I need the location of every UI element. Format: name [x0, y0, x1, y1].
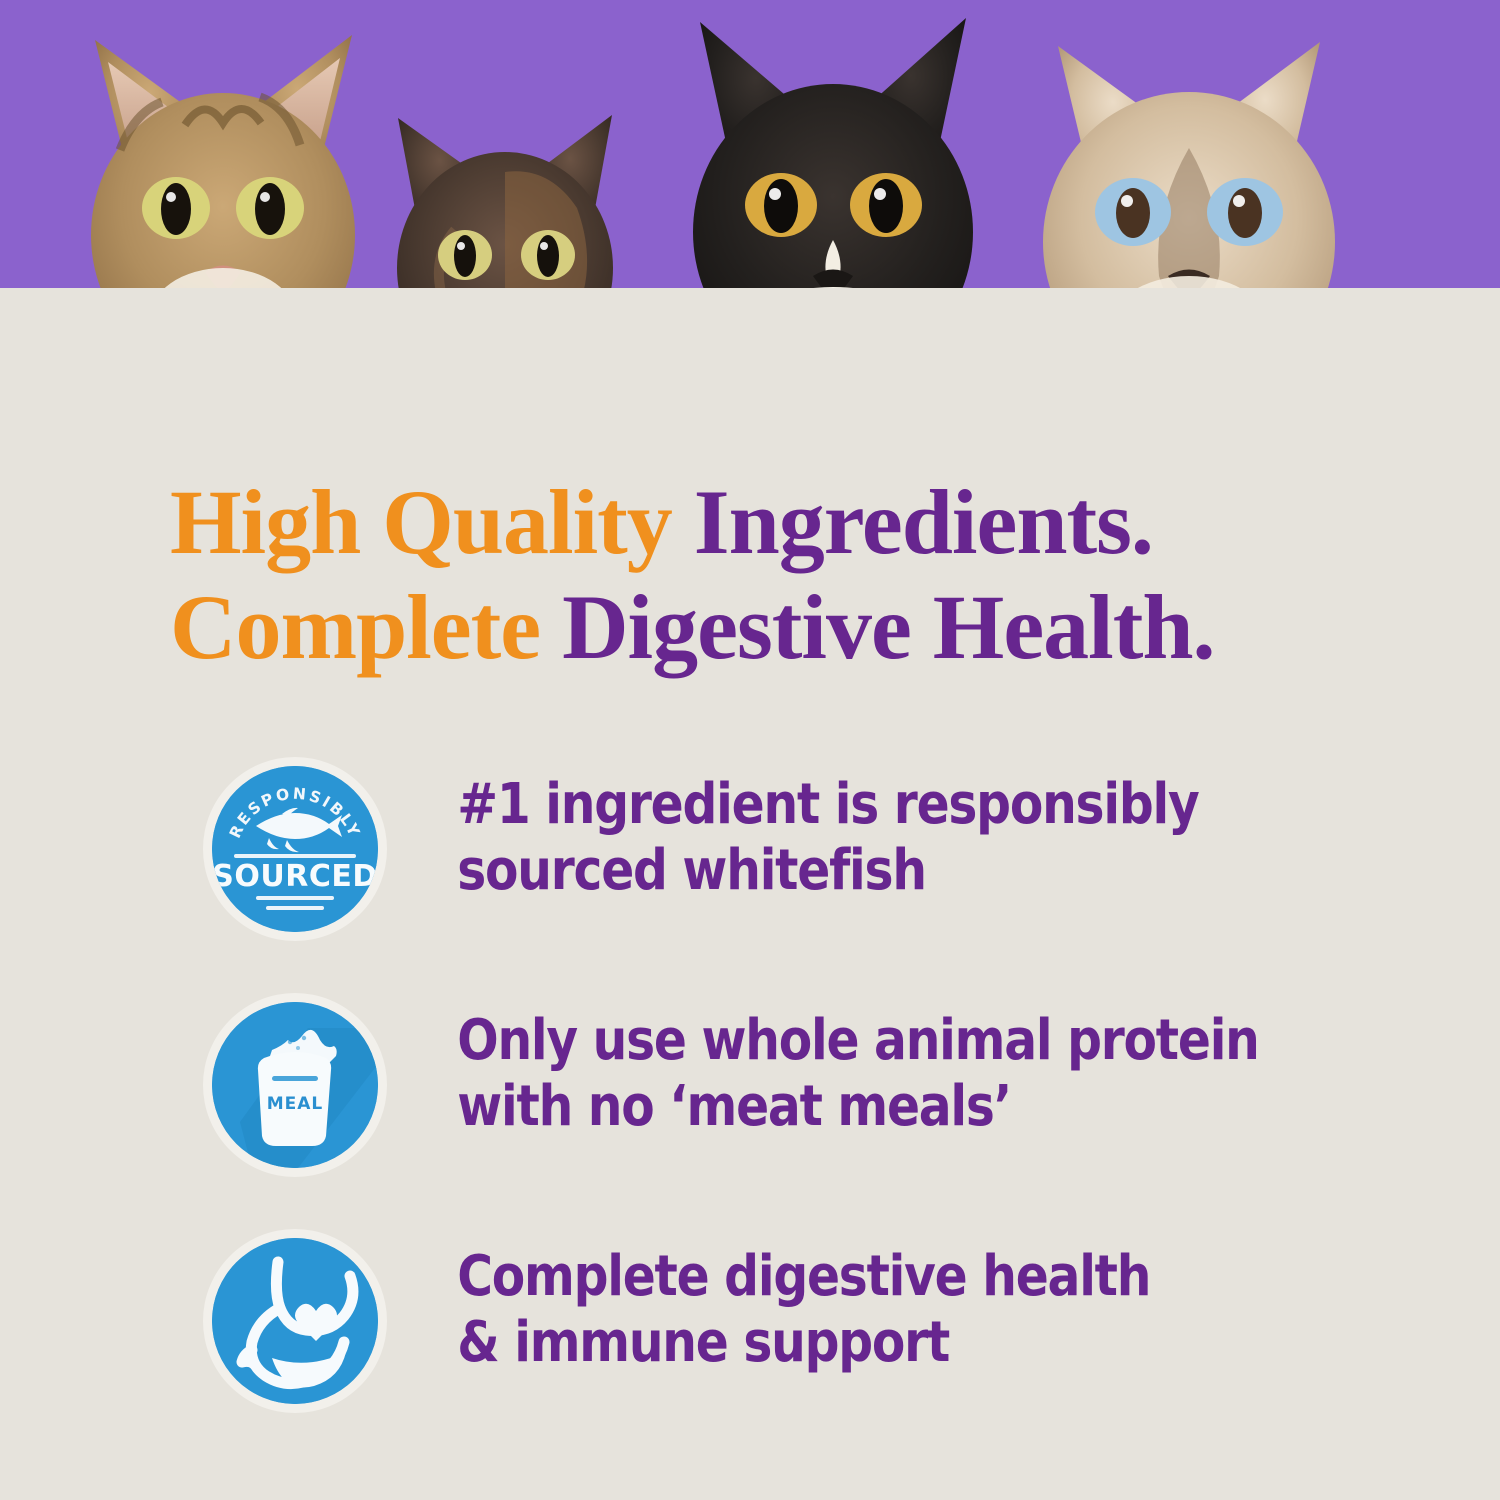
- feature-row: MEAL Only use whole animal protein with …: [0, 996, 1500, 1232]
- headline-line-2: Complete Digestive Health.: [170, 575, 1430, 680]
- cat-tuxedo-longhair: [622, 18, 1046, 420]
- feature-text: Complete digestive health & immune suppo…: [412, 1232, 1359, 1375]
- promo-graphic: High Quality Ingredients. Complete Diges…: [0, 0, 1500, 1500]
- feature-row: Complete digestive health & immune suppo…: [0, 1232, 1500, 1468]
- meal-sack-badge-icon: MEAL: [212, 1002, 378, 1168]
- badge-main-label: SOURCED: [212, 859, 377, 894]
- headline-line-2-purple: Digestive Health.: [562, 576, 1214, 678]
- page-title: High Quality Ingredients. Complete Diges…: [170, 470, 1430, 680]
- cat-photo-group: [0, 0, 1500, 420]
- hero-banner: [0, 0, 1500, 420]
- feature-text: #1 ingredient is responsibly sourced whi…: [412, 760, 1359, 903]
- feature-list: RESPONSIBLY SOURCED: [0, 760, 1500, 1468]
- badge-slot: RESPONSIBLY SOURCED: [212, 760, 412, 932]
- badge-slot: [212, 1232, 412, 1404]
- headline-line-2-orange: Complete: [170, 576, 562, 678]
- headline-line-1: High Quality Ingredients.: [170, 470, 1430, 575]
- headline-line-1-orange: High Quality: [170, 471, 694, 573]
- feature-row: RESPONSIBLY SOURCED: [0, 760, 1500, 996]
- headline-line-1-purple: Ingredients.: [694, 471, 1153, 573]
- badge-slot: MEAL: [212, 996, 412, 1168]
- feature-text: Only use whole animal protein with no ‘m…: [412, 996, 1359, 1139]
- badge-main-label: MEAL: [267, 1094, 324, 1114]
- responsibly-sourced-fish-badge-icon: RESPONSIBLY SOURCED: [212, 766, 378, 932]
- stomach-heart-badge-icon: [212, 1238, 378, 1404]
- cat-seal-point-ragdoll: [972, 42, 1406, 408]
